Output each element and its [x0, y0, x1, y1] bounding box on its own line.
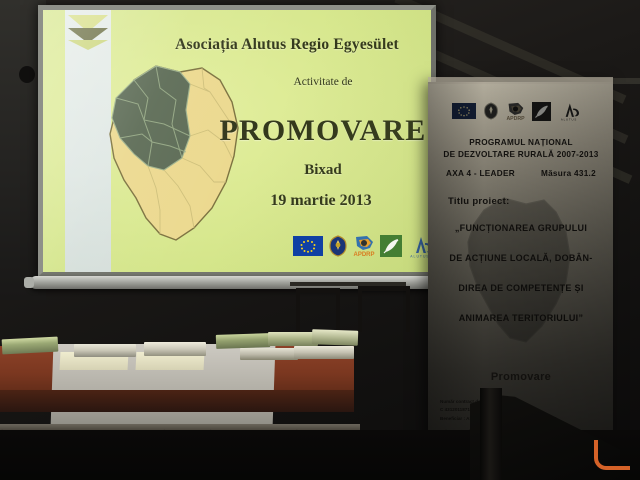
chair-back: [358, 286, 410, 291]
table-cloth-lower: [0, 390, 354, 412]
chair-leg: [358, 286, 362, 332]
screen-frame: [38, 5, 436, 277]
brochure-stack: [312, 329, 358, 346]
banner-project-title-line-4: ANIMAREA TERITORIULUI”: [436, 312, 606, 325]
banner-logo-row: APDRP ALUTUS: [452, 98, 592, 124]
brochure-stack: [268, 332, 318, 346]
wall-knob: [19, 66, 35, 83]
banner-project-title-line-2: DE ACȚIUNE LOCALĂ, DOBÂN-: [436, 252, 606, 265]
brochure-stack: [2, 337, 59, 355]
banner-measure: Măsura 431.2: [541, 168, 596, 180]
banner-axis: AXA 4 - LEADER: [446, 168, 515, 180]
banner-project-title-line-3: DIREA DE COMPETENȚE ȘI: [436, 282, 606, 295]
programme-line-2: DE DEZVOLTARE RURALĂ 2007-2013: [436, 149, 606, 161]
chair-leg: [336, 288, 340, 332]
romania-coat-of-arms-logo: [483, 100, 499, 122]
banner-programme-name: PROGRAMUL NAȚIONAL DE DEZVOLTARE RURALĂ …: [436, 137, 606, 161]
conference-room-photo: Asociația Alutus Regio Egyesület Activit…: [0, 0, 640, 480]
brochure-stack: [216, 333, 270, 349]
svg-text:ALUTUS: ALUTUS: [561, 118, 577, 122]
brochure-stack: [240, 348, 298, 360]
screen-bar-end-left: [24, 277, 34, 288]
chair-back: [296, 288, 340, 293]
svg-text:APDRP: APDRP: [506, 116, 525, 122]
projection-screen: Asociația Alutus Regio Egyesület Activit…: [38, 5, 436, 277]
chair-leg: [406, 288, 410, 332]
orange-chair-edge: [594, 440, 630, 470]
banner-top-rail: [428, 77, 613, 84]
foreground-post: [480, 388, 502, 480]
brochure-stack: [294, 346, 354, 359]
alutus-logo: ALUTUS: [558, 100, 580, 122]
banner-title-label: Titlu proiect:: [442, 195, 602, 209]
banner-axis-measure: AXA 4 - LEADER Măsura 431.2: [436, 168, 606, 180]
banner-section-heading: Promovare: [436, 370, 606, 386]
eu-flag-logo: [452, 100, 476, 122]
chair-leg: [296, 288, 300, 332]
banner-map-graphic: [456, 192, 586, 357]
leader-leaf-logo: [532, 100, 551, 122]
apdrp-logo: APDRP: [506, 100, 525, 122]
programme-line-1: PROGRAMUL NAȚIONAL: [436, 137, 606, 149]
banner-project-title-line-1: „FUNCȚIONAREA GRUPULUI: [436, 222, 606, 235]
brochure-stack: [74, 344, 136, 357]
brochure-stack: [144, 342, 206, 356]
